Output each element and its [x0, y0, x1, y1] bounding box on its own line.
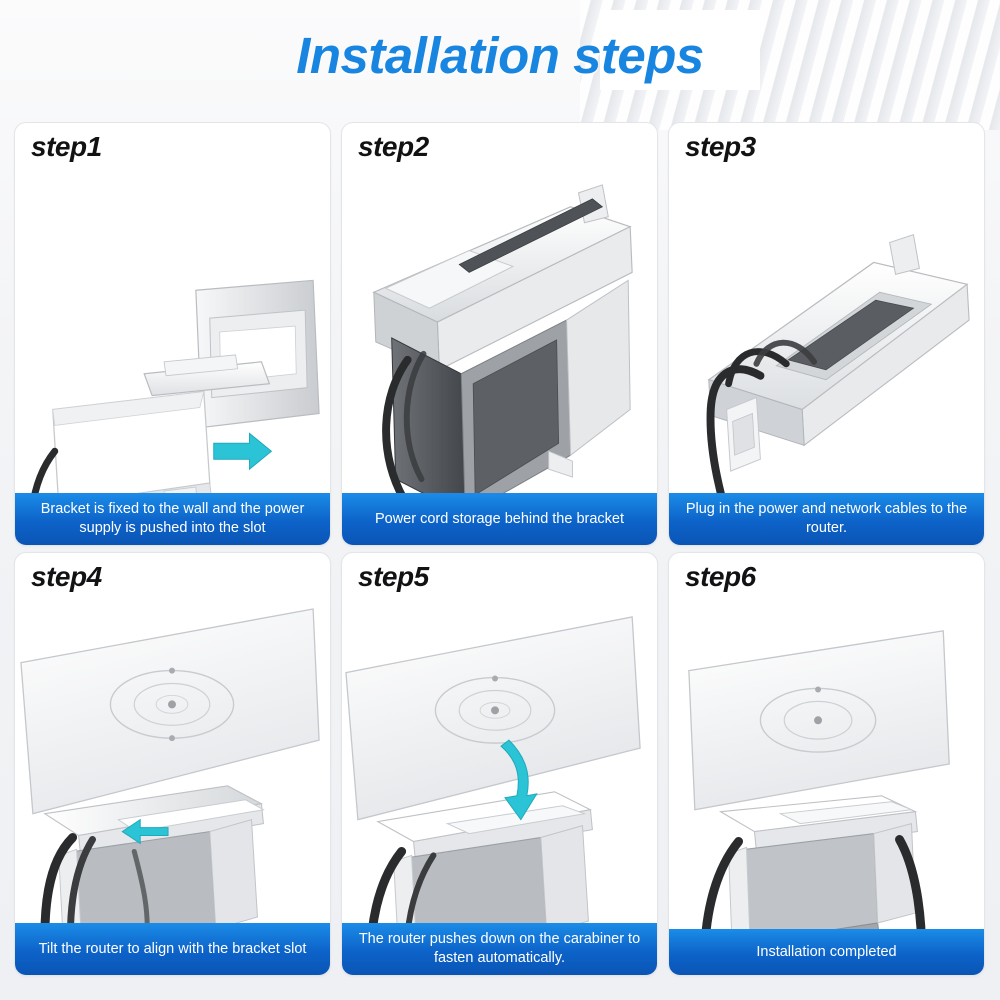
step-label-6: step6: [685, 561, 756, 593]
step-card-6: step6: [668, 552, 985, 976]
installation-guide-page: Installation steps step1: [0, 0, 1000, 1000]
step-caption-4: Tilt the router to align with the bracke…: [15, 923, 330, 975]
step-caption-6: Installation completed: [669, 929, 984, 975]
step-card-1: step1: [14, 122, 331, 546]
step-illustration-3: [669, 123, 984, 545]
step-illustration-1: [15, 123, 330, 545]
step-card-2: step2: [341, 122, 658, 546]
page-title: Installation steps: [0, 26, 1000, 85]
steps-grid: step1: [14, 122, 986, 976]
step-caption-1: Bracket is fixed to the wall and the pow…: [15, 493, 330, 545]
step-caption-5: The router pushes down on the carabiner …: [342, 923, 657, 975]
step-label-4: step4: [31, 561, 102, 593]
step-caption-2: Power cord storage behind the bracket: [342, 493, 657, 545]
step-card-5: step5: [341, 552, 658, 976]
step-illustration-5: [342, 553, 657, 975]
step-illustration-6: [669, 553, 984, 975]
step-label-1: step1: [31, 131, 102, 163]
step-caption-3: Plug in the power and network cables to …: [669, 493, 984, 545]
step-label-2: step2: [358, 131, 429, 163]
step-label-5: step5: [358, 561, 429, 593]
step-label-3: step3: [685, 131, 756, 163]
step-card-4: step4: [14, 552, 331, 976]
direction-arrow-right: [214, 433, 272, 469]
step-illustration-4: [15, 553, 330, 975]
step-card-3: step3: [668, 122, 985, 546]
step-illustration-2: [342, 123, 657, 545]
